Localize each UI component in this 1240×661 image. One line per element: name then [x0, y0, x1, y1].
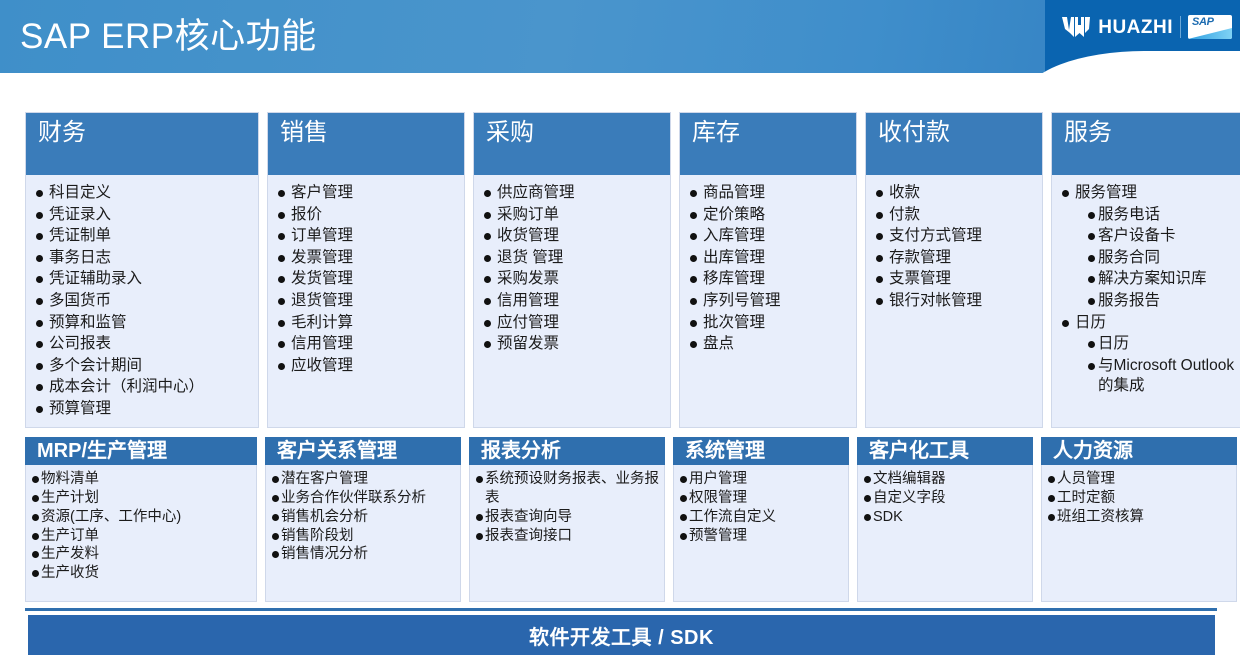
bullet-icon: [484, 190, 491, 197]
list-item[interactable]: 班组工资核算: [1048, 508, 1232, 527]
panel-inventory-title: 库存: [692, 119, 740, 147]
panel-reporting-header: 报表分析: [469, 437, 665, 465]
panel-procurement-items: 供应商管理 采购订单 收货管理 退货 管理 采购发票 信用管理 应付管理 预留发…: [474, 175, 670, 362]
bullet-icon: [1048, 476, 1055, 483]
bullet-icon: [278, 233, 285, 240]
bullet-icon: [36, 190, 43, 197]
list-item[interactable]: 商品管理: [690, 183, 850, 204]
sub-list-item[interactable]: 日历: [1088, 334, 1240, 355]
bullet-icon: [484, 255, 491, 262]
bullet-icon: [864, 514, 871, 521]
bullet-icon: [36, 233, 43, 240]
header-curve-decoration: [1025, 51, 1240, 73]
list-item[interactable]: 订单管理: [278, 226, 458, 247]
bullet-icon: [1088, 212, 1095, 219]
bullet-icon: [278, 190, 285, 197]
list-item[interactable]: 资源(工序、工作中心): [32, 508, 252, 527]
bullet-icon: [690, 233, 697, 240]
bullet-icon: [876, 212, 883, 219]
list-item[interactable]: 收货管理: [484, 226, 664, 247]
bullet-icon: [32, 495, 39, 502]
bullet-icon: [36, 384, 43, 391]
panel-hr-header: 人力资源: [1041, 437, 1237, 465]
panel-system-header: 系统管理: [673, 437, 849, 465]
bullet-icon: [278, 341, 285, 348]
list-item[interactable]: 报表查询接口: [476, 527, 660, 546]
list-item[interactable]: 权限管理: [680, 489, 844, 508]
bullet-icon: [876, 255, 883, 262]
bullet-icon: [484, 298, 491, 305]
panel-payments-items: 收款 付款 支付方式管理 存款管理 支票管理 银行对帐管理: [866, 175, 1042, 319]
list-item[interactable]: 凭证制单: [36, 226, 252, 247]
header-brand-panel: HUAZHI SAP: [1045, 0, 1240, 73]
list-item[interactable]: 预警管理: [680, 527, 844, 546]
panel-inventory-items: 商品管理 定价策略 入库管理 出库管理 移库管理 序列号管理 批次管理 盘点: [680, 175, 856, 362]
bullet-icon: [876, 233, 883, 240]
bullet-icon: [32, 570, 39, 577]
bullet-icon: [36, 406, 43, 413]
list-item[interactable]: 信用管理: [278, 334, 458, 355]
bullet-icon: [1088, 255, 1095, 262]
panel-service: 服务 服务管理 服务电话 客户设备卡 服务合同 解决方案知识库 服务报告 日历 …: [1051, 112, 1240, 428]
bullet-icon: [272, 551, 279, 558]
list-item[interactable]: 预算管理: [36, 399, 252, 420]
panel-service-items: 服务管理 服务电话 客户设备卡 服务合同 解决方案知识库 服务报告 日历 日历 …: [1052, 175, 1240, 404]
footer-sdk-bar: 软件开发工具 / SDK: [28, 615, 1215, 655]
bullet-icon: [32, 514, 39, 521]
list-item[interactable]: 自定义字段: [864, 489, 1028, 508]
list-item[interactable]: 移库管理: [690, 269, 850, 290]
panel-finance-header: 财务: [26, 113, 258, 175]
list-item[interactable]: 凭证录入: [36, 205, 252, 226]
panel-customization-items: 文档编辑器 自定义字段 SDK: [857, 465, 1033, 602]
list-item[interactable]: 供应商管理: [484, 183, 664, 204]
list-item[interactable]: 工时定额: [1048, 489, 1232, 508]
list-item[interactable]: 潜在客户管理: [272, 470, 456, 489]
list-item[interactable]: 生产订单: [32, 527, 252, 546]
list-item[interactable]: 盘点: [690, 334, 850, 355]
list-item[interactable]: 凭证辅助录入: [36, 269, 252, 290]
bullet-icon: [32, 476, 39, 483]
bullet-icon: [484, 212, 491, 219]
list-item[interactable]: 成本会计（利润中心）: [36, 377, 252, 398]
bullet-icon: [690, 276, 697, 283]
bullet-icon: [876, 298, 883, 305]
list-item[interactable]: 出库管理: [690, 248, 850, 269]
panel-sales-title: 销售: [280, 119, 328, 147]
bullet-icon: [690, 190, 697, 197]
list-item[interactable]: 应付管理: [484, 313, 664, 334]
list-item[interactable]: 应收管理: [278, 356, 458, 377]
page-title: SAP ERP核心功能: [20, 8, 317, 59]
list-item[interactable]: 发票管理: [278, 248, 458, 269]
panel-payments-title: 收付款: [878, 119, 950, 147]
bullet-icon: [1088, 341, 1095, 348]
bullet-icon: [484, 276, 491, 283]
feature-board: 财务 科目定义 凭证录入 凭证制单 事务日志 凭证辅助录入 多国货币 预算和监管…: [0, 73, 1240, 661]
panel-service-header: 服务: [1052, 113, 1240, 175]
panel-procurement: 采购 供应商管理 采购订单 收货管理 退货 管理 采购发票 信用管理 应付管理 …: [473, 112, 671, 428]
list-item[interactable]: 批次管理: [690, 313, 850, 334]
list-item[interactable]: 销售阶段划: [272, 527, 456, 546]
bullet-icon: [278, 320, 285, 327]
bullet-icon: [36, 341, 43, 348]
panel-procurement-title: 采购: [486, 119, 534, 147]
bullet-icon: [690, 255, 697, 262]
brand-logo: HUAZHI SAP: [1061, 12, 1232, 42]
panel-finance: 财务 科目定义 凭证录入 凭证制单 事务日志 凭证辅助录入 多国货币 预算和监管…: [25, 112, 259, 428]
panel-service-title: 服务: [1064, 119, 1112, 147]
huazhi-w-mark-icon: [1061, 16, 1091, 38]
panel-sales-items: 客户管理 报价 订单管理 发票管理 发货管理 退货管理 毛利计算 信用管理 应收…: [268, 175, 464, 383]
bullet-icon: [1062, 190, 1069, 197]
logo-divider: [1180, 16, 1181, 38]
bullet-icon: [36, 212, 43, 219]
bullet-icon: [1048, 514, 1055, 521]
panel-payments: 收付款 收款 付款 支付方式管理 存款管理 支票管理 银行对帐管理: [865, 112, 1043, 428]
list-item[interactable]: 生产发料: [32, 545, 252, 564]
list-item[interactable]: 定价策略: [690, 205, 850, 226]
bullet-icon: [272, 514, 279, 521]
bullet-icon: [36, 320, 43, 327]
panel-mrp-title: MRP/生产管理: [37, 441, 167, 461]
bullet-icon: [278, 276, 285, 283]
panel-customization: 客户化工具 文档编辑器 自定义字段 SDK: [857, 437, 1033, 602]
panel-hr-title: 人力资源: [1053, 441, 1133, 461]
list-item[interactable]: 客户管理: [278, 183, 458, 204]
panel-finance-items: 科目定义 凭证录入 凭证制单 事务日志 凭证辅助录入 多国货币 预算和监管 公司…: [26, 175, 258, 427]
panel-payments-header: 收付款: [866, 113, 1042, 175]
panel-reporting-title: 报表分析: [481, 441, 561, 461]
sub-list-item[interactable]: 与Microsoft Outlook 的集成: [1088, 356, 1240, 397]
list-item[interactable]: 退货管理: [278, 291, 458, 312]
bullet-icon: [36, 363, 43, 370]
bullet-icon: [484, 233, 491, 240]
bullet-icon: [690, 320, 697, 327]
panel-customization-title: 客户化工具: [869, 441, 969, 461]
bullet-icon: [32, 551, 39, 558]
list-item[interactable]: 报价: [278, 205, 458, 226]
list-item[interactable]: 销售情况分析: [272, 545, 456, 564]
bullet-icon: [272, 495, 279, 502]
list-item[interactable]: 销售机会分析: [272, 508, 456, 527]
list-item[interactable]: 信用管理: [484, 291, 664, 312]
bullet-icon: [1088, 298, 1095, 305]
sub-list-item[interactable]: 服务合同: [1088, 248, 1240, 269]
list-item[interactable]: 采购发票: [484, 269, 664, 290]
bullet-icon: [272, 476, 279, 483]
sap-partner-badge: SAP: [1188, 15, 1232, 39]
page-header: SAP ERP核心功能 HUAZHI SAP: [0, 0, 1240, 73]
list-item[interactable]: 用户管理: [680, 470, 844, 489]
bullet-icon: [278, 255, 285, 262]
list-item[interactable]: 退货 管理: [484, 248, 664, 269]
sub-list-item[interactable]: 服务报告: [1088, 291, 1240, 312]
footer-sdk-label: 软件开发工具 / SDK: [529, 621, 714, 650]
bullet-icon: [272, 533, 279, 540]
panel-crm-header: 客户关系管理: [265, 437, 461, 465]
bullet-icon: [36, 298, 43, 305]
panel-mrp: MRP/生产管理 物料清单 生产计划 资源(工序、工作中心) 生产订单 生产发料…: [25, 437, 257, 602]
panel-hr: 人力资源 人员管理 工时定额 班组工资核算: [1041, 437, 1237, 602]
sap-badge-wedge: [1188, 28, 1232, 39]
list-item[interactable]: 预留发票: [484, 334, 664, 355]
list-item[interactable]: 发货管理: [278, 269, 458, 290]
bullet-icon: [680, 533, 687, 540]
bullet-icon: [1088, 363, 1095, 370]
list-item[interactable]: 入库管理: [690, 226, 850, 247]
list-item[interactable]: 预算和监管: [36, 313, 252, 334]
list-item[interactable]: 科目定义: [36, 183, 252, 204]
list-item[interactable]: 支付方式管理: [876, 226, 1036, 247]
list-item[interactable]: 生产收货: [32, 564, 252, 583]
panel-customization-header: 客户化工具: [857, 437, 1033, 465]
footer-divider: [25, 608, 1217, 611]
panel-finance-title: 财务: [38, 119, 86, 147]
list-item[interactable]: 多国货币: [36, 291, 252, 312]
list-item[interactable]: 日历: [1062, 313, 1240, 334]
bullet-icon: [1088, 233, 1095, 240]
bullet-icon: [876, 276, 883, 283]
list-item[interactable]: 工作流自定义: [680, 508, 844, 527]
list-item[interactable]: 文档编辑器: [864, 470, 1028, 489]
bullet-icon: [484, 320, 491, 327]
panel-reporting: 报表分析 系统预设财务报表、业务报表 报表查询向导 报表查询接口: [469, 437, 665, 602]
list-item[interactable]: 业务合作伙伴联系分析: [272, 489, 456, 508]
bullet-icon: [36, 276, 43, 283]
list-item[interactable]: 服务管理: [1062, 183, 1240, 204]
list-item[interactable]: 系统预设财务报表、业务报表: [476, 470, 660, 508]
bullet-icon: [864, 476, 871, 483]
panel-system: 系统管理 用户管理 权限管理 工作流自定义 预警管理: [673, 437, 849, 602]
bullet-icon: [864, 495, 871, 502]
panel-procurement-header: 采购: [474, 113, 670, 175]
list-item[interactable]: 序列号管理: [690, 291, 850, 312]
bullet-icon: [1062, 320, 1069, 327]
bullet-icon: [484, 341, 491, 348]
panel-system-title: 系统管理: [685, 441, 765, 461]
panel-inventory: 库存 商品管理 定价策略 入库管理 出库管理 移库管理 序列号管理 批次管理 盘…: [679, 112, 857, 428]
list-item[interactable]: 收款: [876, 183, 1036, 204]
list-item[interactable]: 事务日志: [36, 248, 252, 269]
bullet-icon: [690, 212, 697, 219]
bullet-icon: [278, 298, 285, 305]
bullet-icon: [1048, 495, 1055, 502]
list-item[interactable]: 毛利计算: [278, 313, 458, 334]
list-item[interactable]: 物料清单: [32, 470, 252, 489]
sub-list-item[interactable]: 客户设备卡: [1088, 226, 1240, 247]
bullet-icon: [876, 190, 883, 197]
feature-row-primary: 财务 科目定义 凭证录入 凭证制单 事务日志 凭证辅助录入 多国货币 预算和监管…: [25, 112, 1217, 428]
list-item[interactable]: 生产计划: [32, 489, 252, 508]
bullet-icon: [278, 363, 285, 370]
list-item[interactable]: 公司报表: [36, 334, 252, 355]
panel-system-items: 用户管理 权限管理 工作流自定义 预警管理: [673, 465, 849, 602]
panel-mrp-header: MRP/生产管理: [25, 437, 257, 465]
bullet-icon: [476, 476, 483, 483]
panel-inventory-header: 库存: [680, 113, 856, 175]
list-item[interactable]: 存款管理: [876, 248, 1036, 269]
bullet-icon: [680, 476, 687, 483]
panel-crm-title: 客户关系管理: [277, 441, 397, 461]
list-item[interactable]: SDK: [864, 508, 1028, 527]
panel-crm: 客户关系管理 潜在客户管理 业务合作伙伴联系分析 销售机会分析 销售阶段划 销售…: [265, 437, 461, 602]
brand-name: HUAZHI: [1098, 18, 1173, 37]
bullet-icon: [32, 533, 39, 540]
bullet-icon: [36, 255, 43, 262]
panel-hr-items: 人员管理 工时定额 班组工资核算: [1041, 465, 1237, 602]
bullet-icon: [680, 514, 687, 521]
bullet-icon: [278, 212, 285, 219]
list-item[interactable]: 多个会计期间: [36, 356, 252, 377]
sub-list-item[interactable]: 解决方案知识库: [1088, 269, 1240, 290]
panel-sales-header: 销售: [268, 113, 464, 175]
panel-crm-items: 潜在客户管理 业务合作伙伴联系分析 销售机会分析 销售阶段划 销售情况分析: [265, 465, 461, 602]
bullet-icon: [680, 495, 687, 502]
list-item[interactable]: 采购订单: [484, 205, 664, 226]
feature-row-secondary: MRP/生产管理 物料清单 生产计划 资源(工序、工作中心) 生产订单 生产发料…: [25, 437, 1217, 602]
list-item[interactable]: 支票管理: [876, 269, 1036, 290]
bullet-icon: [690, 341, 697, 348]
bullet-icon: [476, 514, 483, 521]
list-item[interactable]: 人员管理: [1048, 470, 1232, 489]
bullet-icon: [690, 298, 697, 305]
sap-badge-label: SAP: [1192, 16, 1214, 28]
bullet-icon: [1088, 276, 1095, 283]
list-item[interactable]: 银行对帐管理: [876, 291, 1036, 312]
panel-sales: 销售 客户管理 报价 订单管理 发票管理 发货管理 退货管理 毛利计算 信用管理…: [267, 112, 465, 428]
sub-list-item[interactable]: 服务电话: [1088, 205, 1240, 226]
panel-reporting-items: 系统预设财务报表、业务报表 报表查询向导 报表查询接口: [469, 465, 665, 602]
bullet-icon: [476, 533, 483, 540]
list-item[interactable]: 付款: [876, 205, 1036, 226]
panel-mrp-items: 物料清单 生产计划 资源(工序、工作中心) 生产订单 生产发料 生产收货: [25, 465, 257, 602]
list-item[interactable]: 报表查询向导: [476, 508, 660, 527]
